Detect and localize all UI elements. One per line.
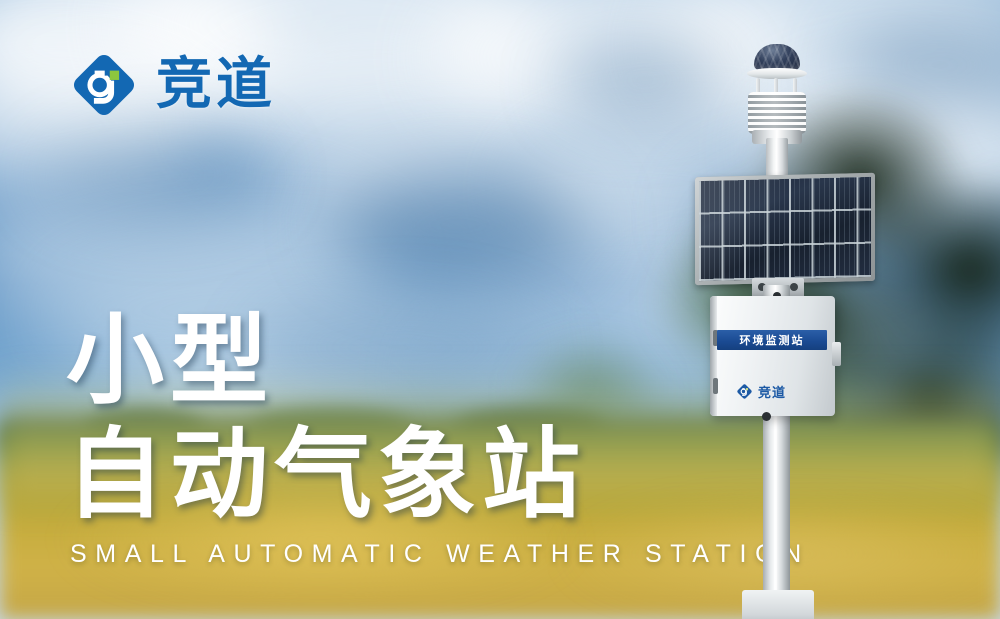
sensor-dome-facets	[754, 44, 800, 70]
control-box-vent	[762, 412, 771, 421]
weather-station-device: 环境监测站 竞道	[690, 30, 890, 619]
control-box-brand-text: 竞道	[758, 382, 786, 401]
pole-base-plate	[742, 590, 814, 619]
shield-fins	[748, 92, 806, 134]
weather-station-product-banner: 竞道 小型 自动气象站 SMALL AUTOMATIC WEATHER STAT…	[0, 0, 1000, 619]
headline-line-1: 小型	[66, 312, 586, 410]
solar-panel-icon	[695, 173, 875, 285]
jingdao-diamond-logo-icon	[736, 383, 753, 400]
control-box-edge	[710, 296, 717, 416]
bracket-bolt	[790, 283, 798, 291]
control-box-label-text: 环境监测站	[740, 332, 805, 348]
page-title: 小型 自动气象站	[66, 312, 586, 524]
control-box-label-band: 环境监测站	[717, 330, 827, 350]
solar-panel-cells	[699, 177, 871, 281]
brand-name: 竞道	[156, 57, 276, 113]
radiation-shield	[748, 92, 806, 134]
brand-logo[interactable]: 竞道	[68, 49, 276, 121]
control-box-hinge	[713, 378, 718, 394]
headline-line-2: 自动气象站	[66, 426, 586, 524]
jingdao-diamond-logo-icon	[68, 49, 140, 121]
control-box-brand-logo: 竞道	[736, 382, 786, 401]
control-box-latch	[832, 342, 841, 366]
